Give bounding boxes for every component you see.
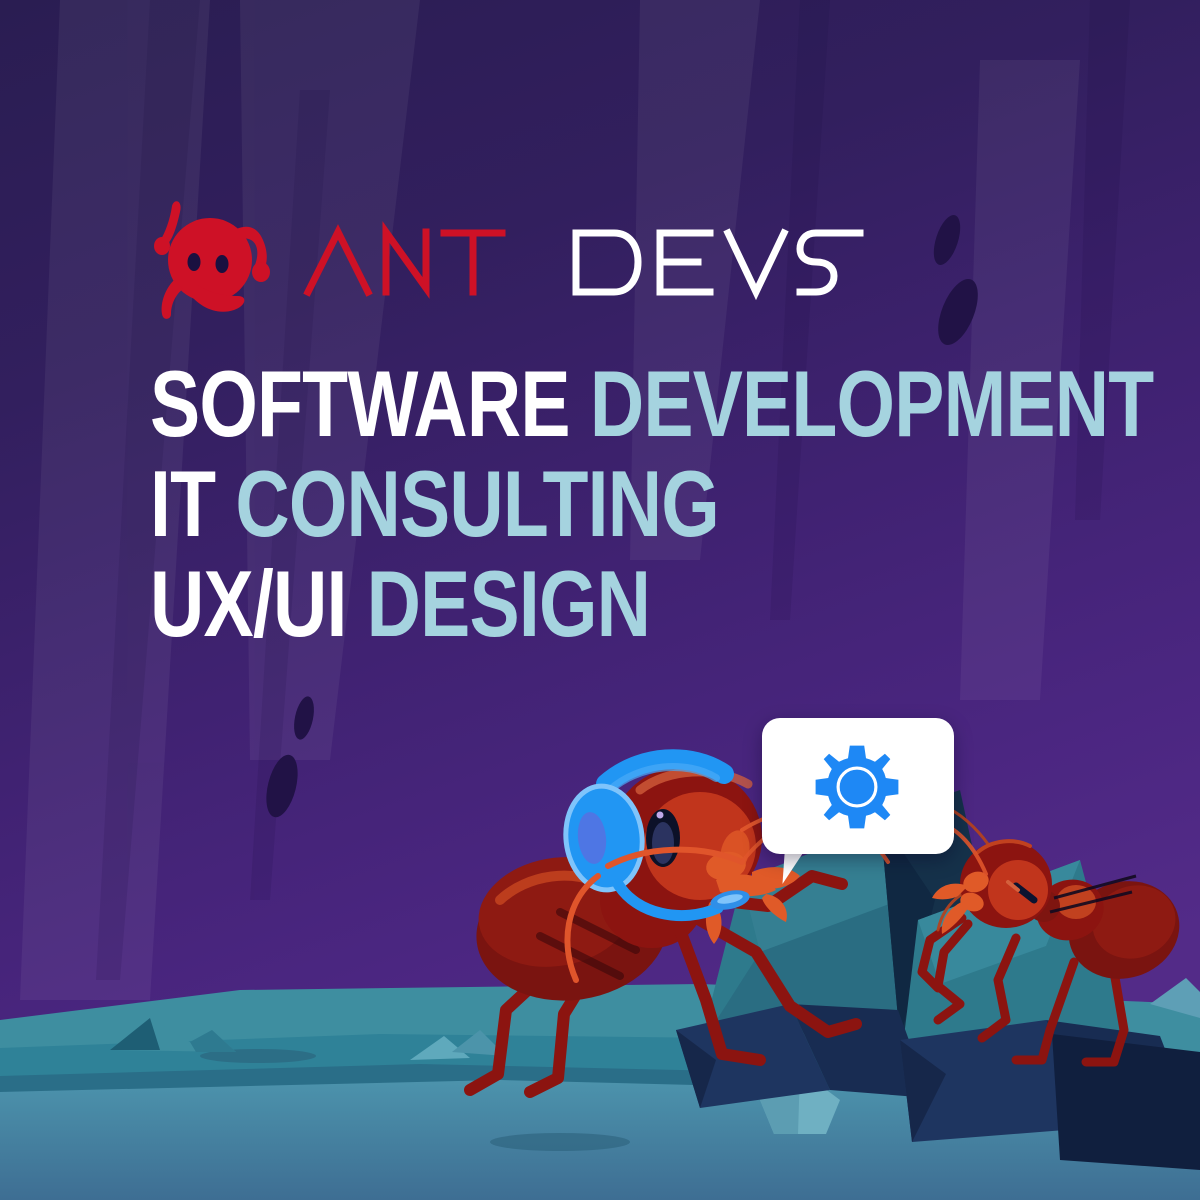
- brand-wordmark: [302, 216, 868, 304]
- ant-climbing: [922, 802, 1192, 1062]
- ground-layers: [0, 978, 1200, 1200]
- headline-block: SOFTWARE DEVELOPMENT IT CONSULTING UX/UI…: [150, 358, 1100, 658]
- headline-line-3-white: UX/UI: [150, 551, 347, 656]
- gear-icon-svg: [808, 742, 906, 832]
- wordmark-ant: [302, 216, 542, 304]
- ant-head-icon: [150, 196, 286, 324]
- headline-line-2: IT CONSULTING: [150, 458, 910, 550]
- headset: [561, 759, 752, 980]
- headline-line-3: UX/UI DESIGN: [150, 558, 910, 650]
- headline-line-1: SOFTWARE DEVELOPMENT: [150, 358, 910, 450]
- headline-line-1-blue: DEVELOPMENT: [590, 351, 1154, 456]
- headline-line-2-white: IT: [150, 451, 215, 556]
- ant-head-icon-svg: [150, 196, 286, 324]
- wordmark-devs: [568, 216, 868, 304]
- headline-line-1-white: SOFTWARE: [150, 351, 570, 456]
- rock-small-left: [110, 1018, 236, 1052]
- rock-small-far-right: [1150, 978, 1200, 1018]
- gear-icon: [808, 742, 906, 832]
- headline-line-2-blue: CONSULTING: [235, 451, 719, 556]
- headline-line-3-blue: DESIGN: [367, 551, 651, 656]
- poster-canvas: SOFTWARE DEVELOPMENT IT CONSULTING UX/UI…: [0, 0, 1200, 1200]
- rock-small-right: [410, 1030, 506, 1060]
- brand-logo[interactable]: [150, 196, 868, 324]
- rock-small-center: [760, 1070, 840, 1134]
